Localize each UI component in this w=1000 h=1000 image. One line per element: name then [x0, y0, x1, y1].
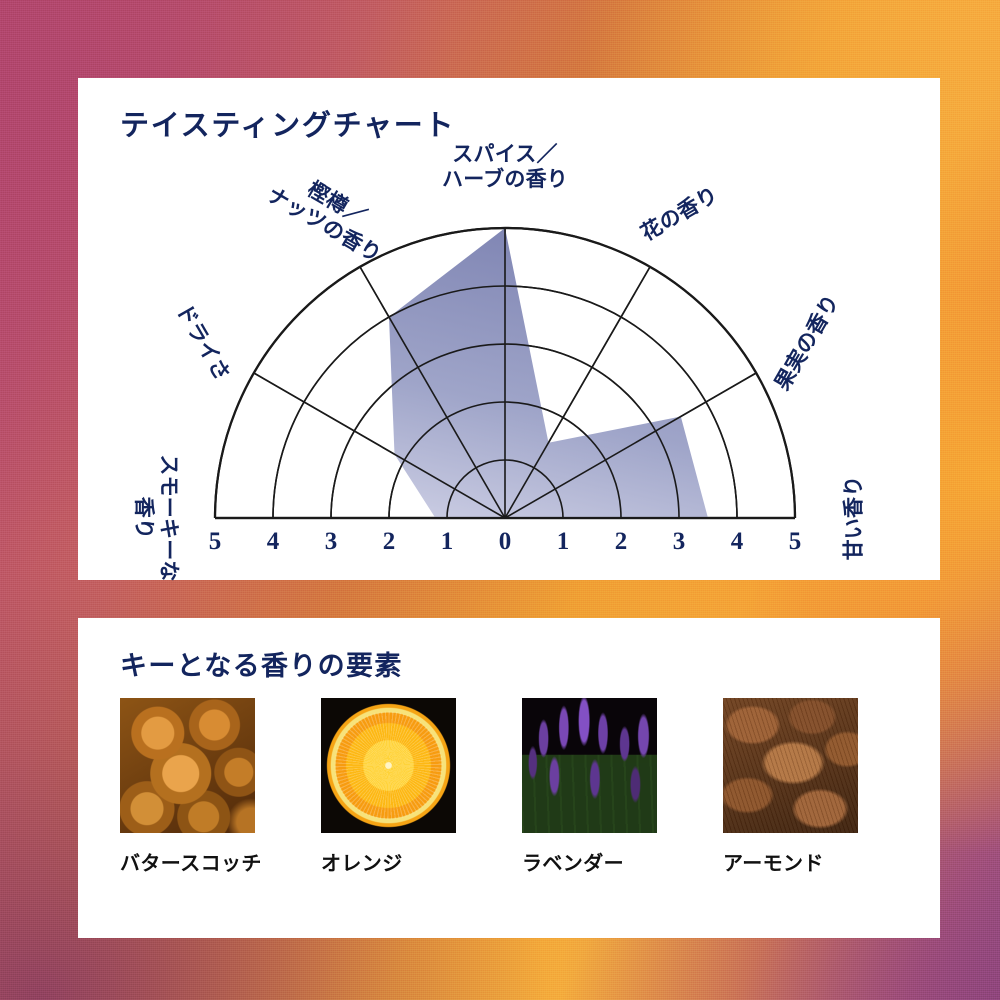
aroma-item: バタースコッチ [120, 698, 255, 876]
aroma-item: オレンジ [321, 698, 456, 876]
axis-tick-label: 5 [209, 528, 222, 556]
axis-category-label: スモーキーな 香り [130, 454, 180, 581]
axis-tick-label: 2 [615, 528, 628, 556]
axis-tick-label: 3 [673, 528, 686, 556]
axis-category-label: スパイス／ ハーブの香り [442, 143, 568, 193]
radar-chart: 54321012345 甘い香り果実の香り花の香りスパイス／ ハーブの香り樫樽／… [78, 78, 940, 580]
orange-slice-photo [321, 698, 456, 833]
tasting-chart-card: テイスティングチャート 54321012345 甘い香り果実の香り花の香りスパイ… [78, 78, 940, 580]
aroma-item: ラベンダー [522, 698, 657, 876]
aroma-item-label: ラベンダー [522, 847, 657, 876]
axis-tick-label: 1 [557, 528, 570, 556]
axis-tick-label: 2 [383, 528, 396, 556]
aroma-item-label: オレンジ [321, 847, 456, 876]
axis-tick-label: 0 [499, 528, 512, 556]
aroma-item-grid: バタースコッチオレンジラベンダーアーモンド [120, 698, 858, 876]
butterscotch-photo [120, 698, 255, 833]
aroma-item-label: バタースコッチ [120, 847, 255, 876]
axis-tick-label: 5 [789, 528, 802, 556]
lavender-photo [522, 698, 657, 833]
axis-tick-label: 1 [441, 528, 454, 556]
radar-grid-overlay [215, 228, 795, 518]
axis-tick-label: 3 [325, 528, 338, 556]
key-aroma-card: キーとなる香りの要素 バタースコッチオレンジラベンダーアーモンド [78, 618, 940, 938]
axis-tick-label: 4 [267, 528, 280, 556]
aroma-item: アーモンド [723, 698, 858, 876]
aroma-section-title: キーとなる香りの要素 [120, 644, 403, 683]
almond-photo [723, 698, 858, 833]
axis-category-label: 甘い香り [843, 476, 868, 561]
radar-series-polygon [389, 228, 708, 518]
radial-axis-ticks: 54321012345 [78, 528, 940, 568]
aroma-item-label: アーモンド [723, 847, 858, 876]
axis-tick-label: 4 [731, 528, 744, 556]
